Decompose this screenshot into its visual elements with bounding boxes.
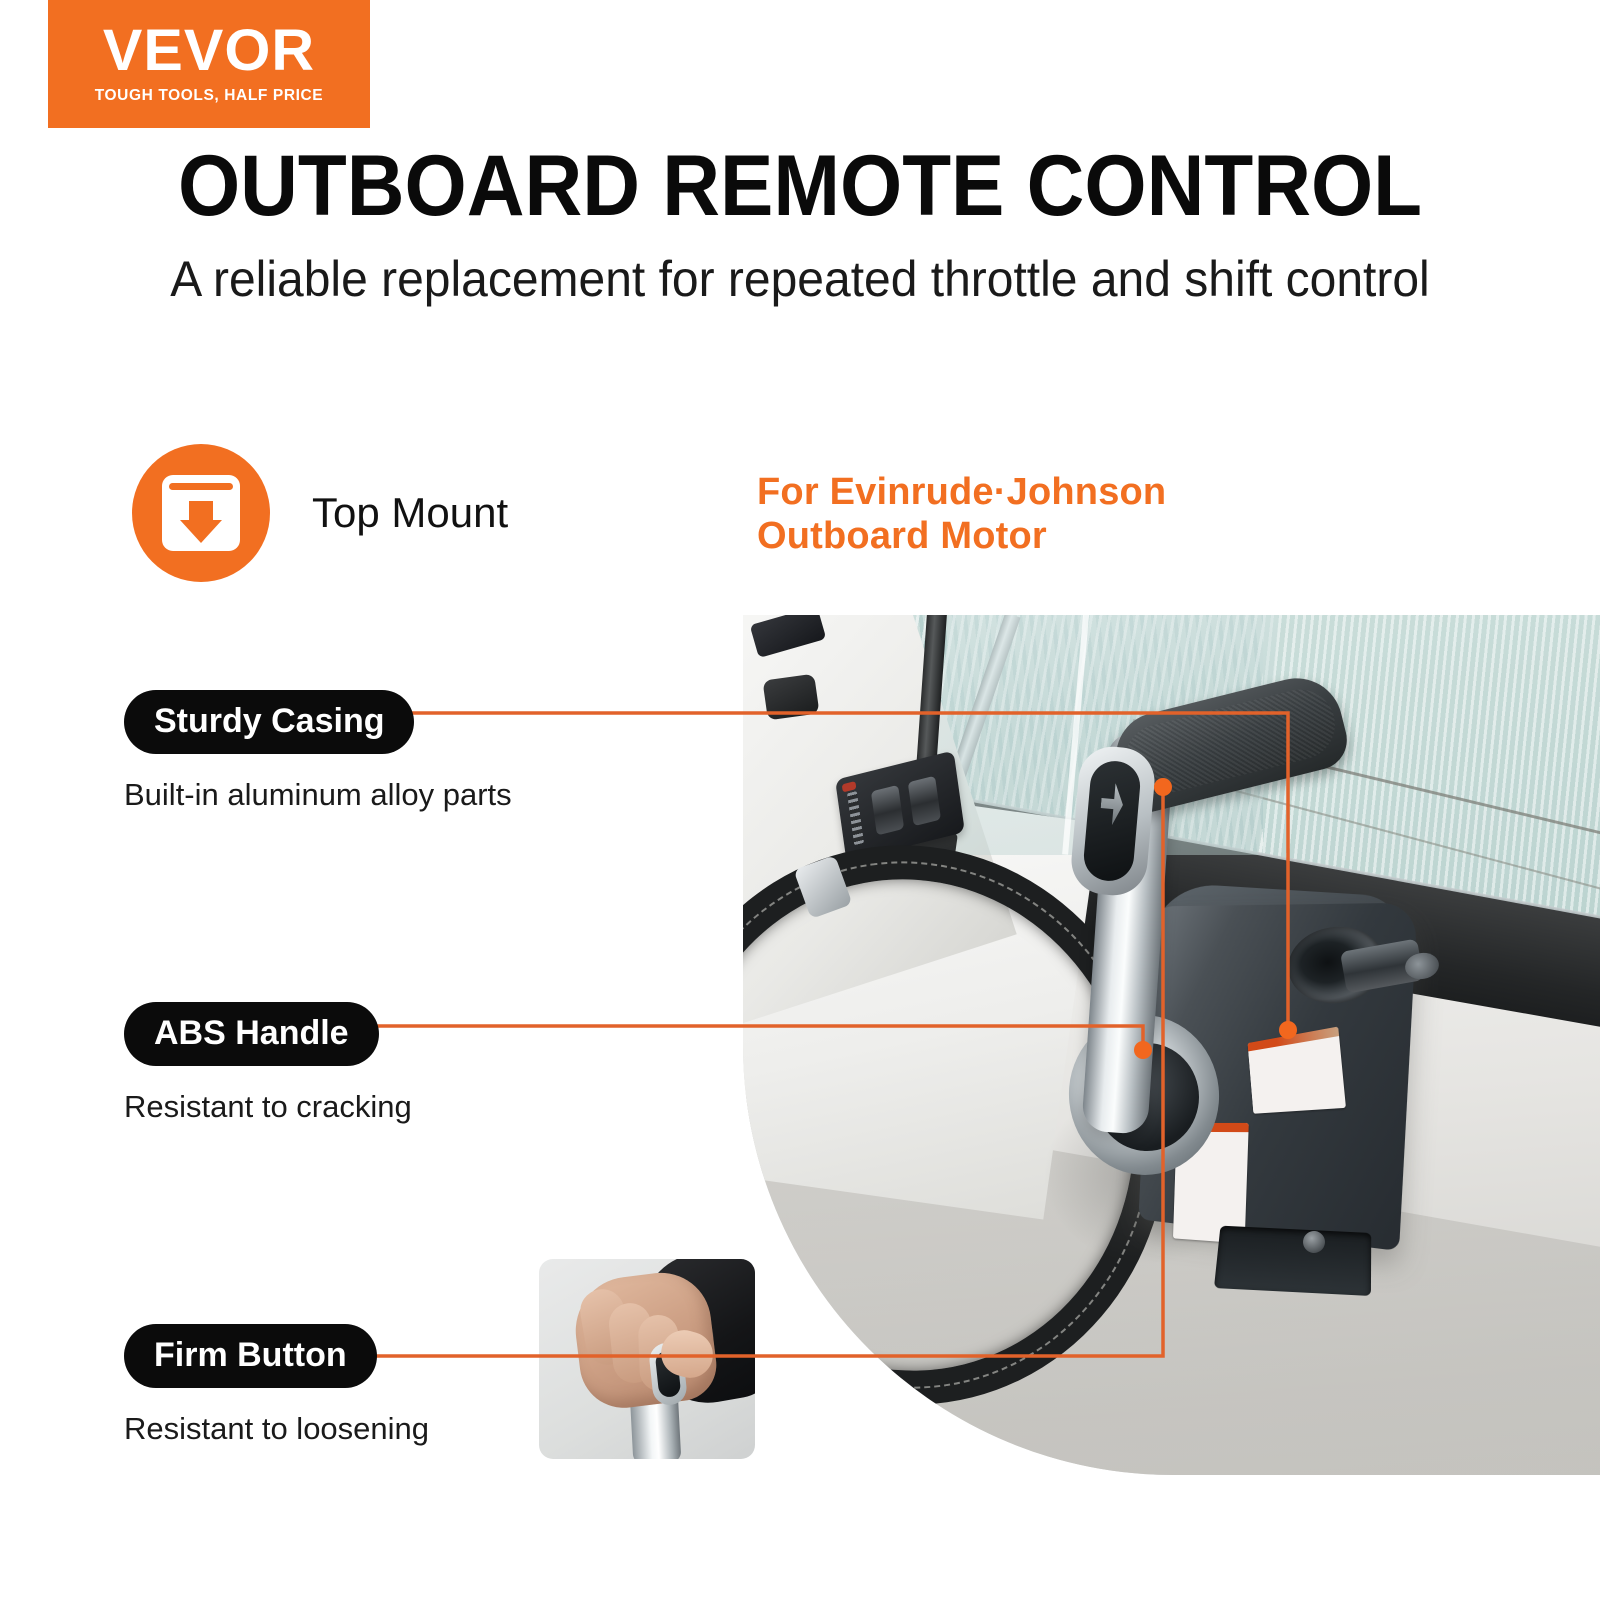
feature-abs-handle: ABS Handle Resistant to cracking	[124, 1002, 412, 1126]
feature-title-badge: Sturdy Casing	[124, 690, 414, 754]
hand-grip-inset-photo	[539, 1259, 755, 1459]
feature-title-badge: ABS Handle	[124, 1002, 379, 1066]
brand-logo: VEVOR TOUGH TOOLS, HALF PRICE	[48, 0, 370, 128]
compatibility-line-2: Outboard Motor	[757, 514, 1166, 558]
box-down-arrow-icon	[132, 444, 270, 582]
mount-type-badge: Top Mount	[132, 444, 508, 582]
feature-firm-button: Firm Button Resistant to loosening	[124, 1324, 429, 1448]
feature-description: Built-in aluminum alloy parts	[124, 776, 512, 814]
compatibility-heading: For Evinrude·Johnson Outboard Motor	[757, 470, 1166, 558]
page-title: OUTBOARD REMOTE CONTROL	[56, 140, 1544, 232]
compatibility-line-1: For Evinrude·Johnson	[757, 470, 1166, 514]
feature-description: Resistant to loosening	[124, 1410, 429, 1448]
brand-tagline: TOUGH TOOLS, HALF PRICE	[95, 86, 324, 106]
brand-name: VEVOR	[103, 22, 315, 80]
page-subtitle: A reliable replacement for repeated thro…	[32, 248, 1568, 310]
feature-description: Resistant to cracking	[124, 1088, 412, 1126]
main-product-photo	[743, 615, 1600, 1475]
warning-label	[1248, 1027, 1346, 1114]
feature-sturdy-casing: Sturdy Casing Built-in aluminum alloy pa…	[124, 690, 512, 814]
feature-title-badge: Firm Button	[124, 1324, 377, 1388]
mount-type-label: Top Mount	[312, 488, 508, 538]
